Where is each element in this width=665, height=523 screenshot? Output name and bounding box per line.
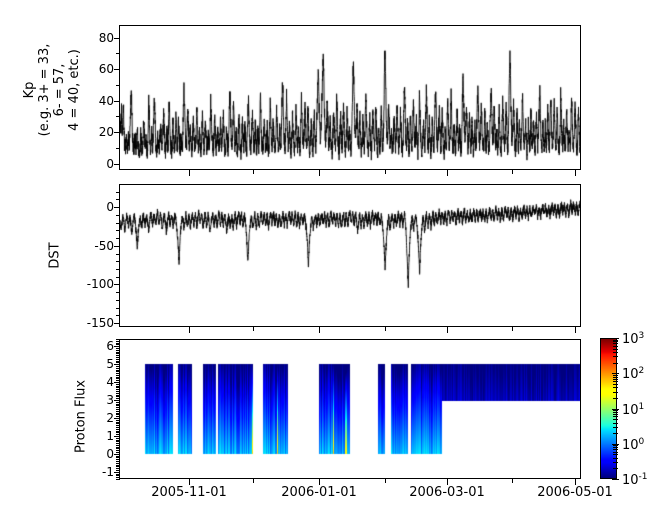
x-tick-label: 2006-01-01 bbox=[281, 486, 357, 500]
colorbar-minor-tick bbox=[613, 447, 618, 448]
colorbar-minor-tick bbox=[613, 343, 618, 344]
colorbar-minor-tick bbox=[613, 398, 618, 399]
dst-ytick-minor-tick bbox=[116, 223, 120, 224]
flux-ytick-minor-tick bbox=[116, 391, 120, 392]
colorbar-minor-tick bbox=[613, 363, 618, 364]
flux-ytick-minor-tick bbox=[116, 418, 120, 419]
dst-ytick-minor-tick bbox=[116, 192, 120, 193]
flux-ytick-minor-tick bbox=[116, 440, 120, 441]
x-minor-tick bbox=[253, 479, 254, 483]
colorbar-tick-exponent: 3 bbox=[639, 331, 645, 341]
x-major-tick bbox=[447, 327, 448, 333]
flux-ytick-minor-tick bbox=[116, 468, 120, 469]
flux-ytick-minor-tick bbox=[116, 380, 120, 381]
colorbar-tick-exponent: -1 bbox=[639, 472, 648, 482]
flux-ytick-minor-tick bbox=[116, 445, 120, 446]
flux-ytick-minor-tick bbox=[116, 443, 120, 444]
colorbar-tick-exponent: 0 bbox=[639, 437, 645, 447]
x-tick-label: 2005-11-01 bbox=[151, 486, 227, 500]
flux-ytick-minor-tick bbox=[116, 395, 120, 396]
flux-ytick-minor-tick bbox=[116, 429, 120, 430]
dst-ytick-minor-tick bbox=[116, 215, 120, 216]
flux-ytick-minor-tick bbox=[116, 420, 120, 421]
x-major-tick bbox=[575, 170, 576, 176]
dst-ytick-label: 0 bbox=[60, 201, 114, 213]
flux-ytick-minor-tick bbox=[116, 466, 120, 467]
x-minor-tick bbox=[253, 170, 254, 174]
colorbar-minor-tick bbox=[613, 445, 618, 446]
flux-ytick-minor-tick bbox=[116, 357, 120, 358]
flux-ytick-minor-tick bbox=[116, 404, 120, 405]
flux-ytick-minor-tick bbox=[116, 422, 120, 423]
colorbar-tick-mantissa: 10 bbox=[622, 438, 639, 453]
flux-ytick-minor-tick bbox=[116, 427, 120, 428]
colorbar-minor-tick bbox=[613, 454, 618, 455]
kp-ytick-major-tick bbox=[114, 38, 120, 39]
colorbar-minor-tick bbox=[613, 419, 618, 420]
axis-title-line: (e.g. 3+ = 33, bbox=[37, 20, 52, 160]
flux-ytick-minor-tick bbox=[116, 350, 120, 351]
flux-ytick-minor-tick bbox=[116, 352, 120, 353]
flux-ytick-minor-tick bbox=[116, 470, 120, 471]
dst-ytick-minor-tick bbox=[116, 230, 120, 231]
flux-ytick-minor-tick bbox=[116, 452, 120, 453]
colorbar-minor-tick bbox=[613, 433, 618, 434]
flux-ytick-minor-tick bbox=[116, 359, 120, 360]
flux-ytick-minor-tick bbox=[116, 346, 120, 347]
flux-ytick-minor-tick bbox=[116, 405, 120, 406]
x-minor-tick bbox=[253, 327, 254, 331]
flux-ytick-minor-tick bbox=[116, 436, 120, 437]
colorbar-major-tick bbox=[612, 338, 619, 339]
colorbar-minor-tick bbox=[613, 379, 618, 380]
colorbar-minor-tick bbox=[613, 412, 618, 413]
flux-ytick-minor-tick bbox=[116, 364, 120, 365]
kp-panel bbox=[119, 25, 581, 170]
dst-ytick-minor-tick bbox=[116, 277, 120, 278]
proton-flux-spectrogram bbox=[120, 340, 580, 478]
dst-series-canvas bbox=[120, 185, 580, 326]
dst-ytick-major-tick bbox=[114, 246, 120, 247]
dst-ytick-minor-tick bbox=[116, 292, 120, 293]
x-major-tick bbox=[447, 170, 448, 176]
colorbar-major-tick bbox=[612, 373, 619, 374]
flux-ytick-minor-tick bbox=[116, 386, 120, 387]
colorbar-minor-tick bbox=[613, 427, 618, 428]
kp-ytick-major-tick bbox=[114, 101, 120, 102]
flux-ytick-minor-tick bbox=[116, 425, 120, 426]
x-major-tick bbox=[575, 327, 576, 333]
flux-ytick-minor-tick bbox=[116, 463, 120, 464]
colorbar-tick-mantissa: 10 bbox=[622, 403, 639, 418]
flux-ytick-minor-tick bbox=[116, 459, 120, 460]
kp-ytick-minor-tick bbox=[116, 53, 120, 54]
flux-ytick-minor-tick bbox=[116, 456, 120, 457]
x-major-tick bbox=[319, 327, 320, 333]
colorbar-tick-label: 102 bbox=[622, 365, 644, 381]
x-major-tick bbox=[319, 479, 320, 485]
x-major-tick bbox=[189, 170, 190, 176]
colorbar-minor-tick bbox=[613, 449, 618, 450]
colorbar-minor-tick bbox=[613, 392, 618, 393]
kp-ytick-major-tick bbox=[114, 69, 120, 70]
kp-axis-title: Kp(e.g. 3+ = 33,6- = 57,4 = 40, etc.) bbox=[22, 20, 82, 160]
flux-ytick-minor-tick bbox=[116, 465, 120, 466]
x-major-tick bbox=[447, 479, 448, 485]
colorbar-minor-tick bbox=[613, 375, 618, 376]
flux-ytick-minor-tick bbox=[116, 474, 120, 475]
colorbar-minor-tick bbox=[613, 381, 618, 382]
x-tick-label: 2006-03-01 bbox=[409, 486, 485, 500]
flux-ytick-minor-tick bbox=[116, 371, 120, 372]
proton-flux-axis-title: Proton Flux bbox=[74, 362, 89, 472]
x-minor-tick bbox=[512, 170, 513, 174]
flux-ytick-minor-tick bbox=[116, 434, 120, 435]
colorbar-tick-mantissa: 10 bbox=[622, 367, 639, 382]
x-minor-tick bbox=[385, 479, 386, 483]
dst-ytick-label: -50 bbox=[60, 240, 114, 252]
x-tick-label: 2006-05-01 bbox=[537, 486, 613, 500]
colorbar-tick-exponent: 2 bbox=[639, 366, 645, 376]
dst-ytick-minor-tick bbox=[116, 269, 120, 270]
kp-ytick-minor-tick bbox=[116, 116, 120, 117]
flux-ytick-minor-tick bbox=[116, 362, 120, 363]
colorbar-minor-tick bbox=[613, 349, 618, 350]
flux-ytick-minor-tick bbox=[116, 447, 120, 448]
colorbar-minor-tick bbox=[613, 452, 618, 453]
flux-ytick-minor-tick bbox=[116, 477, 120, 478]
colorbar-tick-label: 101 bbox=[622, 400, 644, 416]
dst-ytick-label: -150 bbox=[60, 317, 114, 329]
colorbar-tick-mantissa: 10 bbox=[622, 473, 639, 488]
colorbar-minor-tick bbox=[613, 352, 618, 353]
flux-ytick-minor-tick bbox=[116, 343, 120, 344]
proton-event-figure: 020406080 Kp(e.g. 3+ = 33,6- = 57,4 = 40… bbox=[0, 0, 665, 523]
flux-ytick-minor-tick bbox=[116, 389, 120, 390]
x-major-tick bbox=[575, 479, 576, 485]
x-minor-tick bbox=[512, 327, 513, 331]
colorbar-minor-tick bbox=[613, 414, 618, 415]
colorbar-minor-tick bbox=[613, 423, 618, 424]
x-major-tick bbox=[189, 327, 190, 333]
dst-ytick-minor-tick bbox=[116, 300, 120, 301]
x-minor-tick bbox=[385, 170, 386, 174]
flux-ytick-minor-tick bbox=[116, 457, 120, 458]
flux-ytick-minor-tick bbox=[116, 396, 120, 397]
flux-ytick-minor-tick bbox=[116, 411, 120, 412]
flux-ytick-minor-tick bbox=[116, 384, 120, 385]
colorbar-minor-tick bbox=[613, 346, 618, 347]
dst-ytick-major-tick bbox=[114, 323, 120, 324]
flux-ytick-minor-tick bbox=[116, 454, 120, 455]
flux-ytick-minor-tick bbox=[116, 393, 120, 394]
flux-ytick-minor-tick bbox=[116, 348, 120, 349]
axis-title-line: Proton Flux bbox=[74, 362, 89, 472]
flux-ytick-minor-tick bbox=[116, 472, 120, 473]
colorbar-tick-mantissa: 10 bbox=[622, 332, 639, 347]
colorbar-tick-label: 10-1 bbox=[622, 471, 648, 487]
flux-ytick-minor-tick bbox=[116, 361, 120, 362]
dst-ytick-minor-tick bbox=[116, 238, 120, 239]
dst-ytick-minor-tick bbox=[116, 199, 120, 200]
colorbar-minor-tick bbox=[613, 458, 618, 459]
kp-ytick-major-tick bbox=[114, 132, 120, 133]
colorbar-minor-tick bbox=[613, 462, 618, 463]
flux-ytick-minor-tick bbox=[116, 344, 120, 345]
flux-ytick-minor-tick bbox=[116, 355, 120, 356]
flux-ytick-minor-tick bbox=[116, 432, 120, 433]
flux-ytick-minor-tick bbox=[116, 416, 120, 417]
flux-ytick-minor-tick bbox=[116, 366, 120, 367]
axis-title-line: 6- = 57, bbox=[52, 20, 67, 160]
colorbar-minor-tick bbox=[613, 377, 618, 378]
flux-ytick-minor-tick bbox=[116, 431, 120, 432]
colorbar-tick-label: 103 bbox=[622, 330, 644, 346]
colorbar-minor-tick bbox=[613, 340, 618, 341]
flux-ytick-minor-tick bbox=[116, 475, 120, 476]
flux-ytick-minor-tick bbox=[116, 402, 120, 403]
dst-ytick-major-tick bbox=[114, 284, 120, 285]
dst-panel bbox=[119, 184, 581, 327]
flux-ytick-minor-tick bbox=[116, 368, 120, 369]
colorbar-minor-tick bbox=[613, 341, 618, 342]
dst-ytick-minor-tick bbox=[116, 261, 120, 262]
flux-ytick-minor-tick bbox=[116, 373, 120, 374]
flux-ytick-minor-tick bbox=[116, 341, 120, 342]
flux-ytick-label: 6 bbox=[60, 340, 114, 352]
flux-ytick-minor-tick bbox=[116, 378, 120, 379]
colorbar-minor-tick bbox=[613, 410, 618, 411]
flux-ytick-minor-tick bbox=[116, 339, 120, 340]
colorbar-minor-tick bbox=[613, 387, 618, 388]
kp-series-canvas bbox=[120, 26, 580, 169]
x-minor-tick bbox=[512, 479, 513, 483]
flux-ytick-minor-tick bbox=[116, 377, 120, 378]
axis-title-line: Kp bbox=[22, 20, 37, 160]
flux-ytick-minor-tick bbox=[116, 450, 120, 451]
flux-ytick-minor-tick bbox=[116, 438, 120, 439]
kp-ytick-minor-tick bbox=[116, 164, 120, 165]
flux-ytick-minor-tick bbox=[116, 461, 120, 462]
flux-ytick-minor-tick bbox=[116, 382, 120, 383]
colorbar-minor-tick bbox=[613, 468, 618, 469]
dst-ytick-minor-tick bbox=[116, 315, 120, 316]
flux-ytick-minor-tick bbox=[116, 479, 120, 480]
flux-ytick-minor-tick bbox=[116, 413, 120, 414]
flux-ytick-minor-tick bbox=[116, 423, 120, 424]
dst-ytick-minor-tick bbox=[116, 308, 120, 309]
x-major-tick bbox=[319, 170, 320, 176]
flux-ytick-minor-tick bbox=[116, 398, 120, 399]
flux-ytick-minor-tick bbox=[116, 414, 120, 415]
colorbar-minor-tick bbox=[613, 356, 618, 357]
flux-ytick-minor-tick bbox=[116, 375, 120, 376]
dst-ytick-major-tick bbox=[114, 207, 120, 208]
colorbar-major-tick bbox=[612, 479, 619, 480]
colorbar-tick-exponent: 1 bbox=[639, 401, 645, 411]
proton-flux-panel bbox=[119, 339, 581, 479]
axis-title-line: DST bbox=[48, 226, 63, 286]
flux-ytick-minor-tick bbox=[116, 409, 120, 410]
dst-ytick-label: -100 bbox=[60, 278, 114, 290]
kp-ytick-minor-tick bbox=[116, 148, 120, 149]
flux-ytick-minor-tick bbox=[116, 353, 120, 354]
x-major-tick bbox=[189, 479, 190, 485]
flux-ytick-minor-tick bbox=[116, 448, 120, 449]
dst-ytick-minor-tick bbox=[116, 254, 120, 255]
kp-ytick-minor-tick bbox=[116, 85, 120, 86]
flux-ytick-minor-tick bbox=[116, 441, 120, 442]
colorbar-minor-tick bbox=[613, 384, 618, 385]
dst-axis-title: DST bbox=[48, 226, 63, 286]
flux-ytick-minor-tick bbox=[116, 370, 120, 371]
x-minor-tick bbox=[385, 327, 386, 331]
axis-title-line: 4 = 40, etc.) bbox=[67, 20, 82, 160]
colorbar-minor-tick bbox=[613, 416, 618, 417]
flux-ytick-minor-tick bbox=[116, 387, 120, 388]
colorbar-tick-label: 100 bbox=[622, 436, 644, 452]
flux-ytick-minor-tick bbox=[116, 407, 120, 408]
flux-ytick-minor-tick bbox=[116, 400, 120, 401]
